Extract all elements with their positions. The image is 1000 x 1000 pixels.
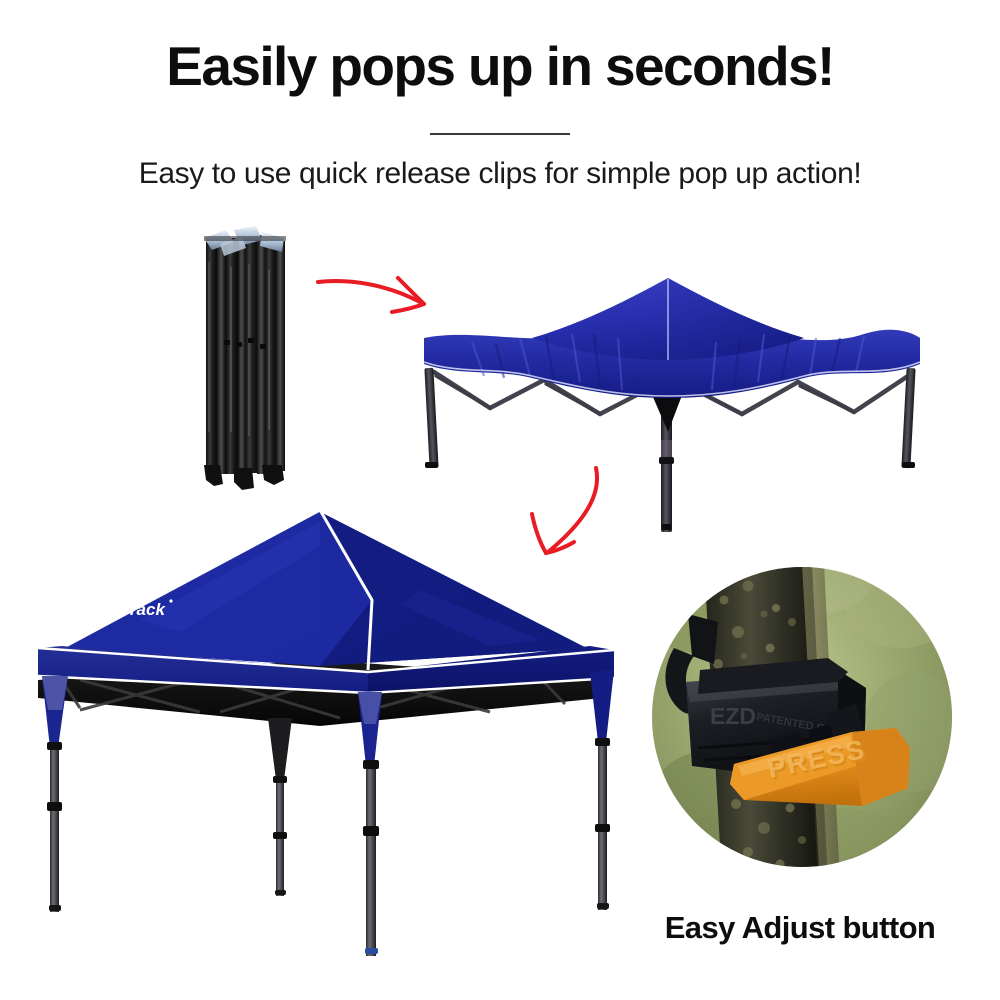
corner-drop-right — [590, 670, 614, 742]
brand-wordmark: Red Track — [83, 600, 166, 619]
leg-front-left — [47, 742, 62, 912]
folded-poles — [206, 234, 285, 474]
clip-brand-text: EZD — [710, 703, 756, 729]
leg-right — [595, 738, 610, 910]
inset-caption: Easy Adjust button — [620, 910, 980, 946]
leg-front-center — [363, 760, 379, 956]
page-subtitle: Easy to use quick release clips for simp… — [0, 157, 1000, 191]
corner-drop-rear — [268, 718, 292, 780]
leg-rear — [273, 776, 287, 896]
infographic-canvas: Easily pops up in seconds! Easy to use q… — [0, 0, 1000, 1000]
arrow-folded-to-halfopen — [312, 268, 437, 323]
folded-gazebo-frame — [190, 222, 310, 492]
erected-gazebo: Red Track — [20, 480, 640, 950]
page-title: Easily pops up in seconds! — [0, 38, 1000, 96]
inset-photo-content: EZD PATENTED OR INVENTION — [644, 548, 966, 896]
title-divider — [430, 133, 570, 135]
gazebo-legs — [47, 738, 610, 956]
easy-adjust-button-photo: EZD PATENTED OR INVENTION — [652, 552, 952, 882]
sunburst-icon — [58, 593, 80, 615]
